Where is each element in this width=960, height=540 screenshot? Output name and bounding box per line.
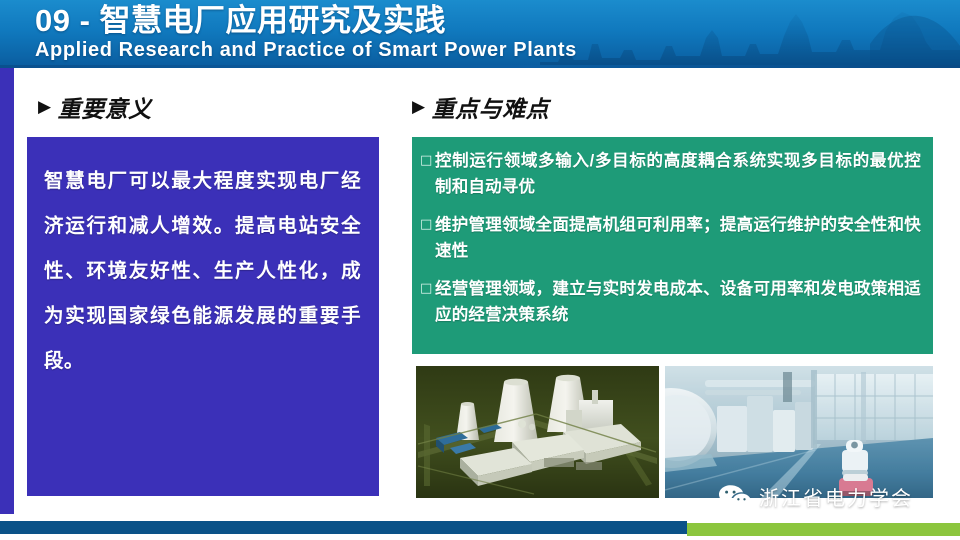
page-subtitle: Applied Research and Practice of Smart P… bbox=[35, 38, 577, 62]
wechat-watermark-label: 浙江省电力学会 bbox=[759, 482, 913, 511]
section-heading-right-label: 重点与难点 bbox=[432, 90, 550, 124]
list-item-text: 控制运行领域多输入/多目标的高度耦合系统实现多目标的最优控制和自动寻优 bbox=[435, 148, 921, 200]
triangle-bullet-icon: ▶ bbox=[412, 98, 426, 115]
section-heading-left: ▶ 重要意义 bbox=[38, 90, 152, 124]
header-bottom-edge bbox=[0, 65, 960, 68]
square-bullet-icon: □ bbox=[420, 276, 435, 302]
square-bullet-icon: □ bbox=[420, 212, 435, 238]
significance-panel: 智慧电厂可以最大程度实现电厂经济运行和减人增效。提高电站安全性、环境友好性、生产… bbox=[27, 137, 379, 496]
power-plant-3d-rendering-image bbox=[416, 366, 659, 498]
wechat-icon bbox=[718, 484, 752, 510]
slide: 09 - 智慧电厂应用研究及实践 Applied Research and Pr… bbox=[0, 0, 960, 540]
city-skyline-silhouette-icon bbox=[540, 0, 960, 68]
triangle-bullet-icon: ▶ bbox=[38, 98, 52, 115]
list-item-text: 维护管理领域全面提高机组可利用率；提高运行维护的安全性和快速性 bbox=[435, 212, 921, 264]
list-item: □ 维护管理领域全面提高机组可利用率；提高运行维护的安全性和快速性 bbox=[420, 212, 921, 264]
wechat-watermark: 浙江省电力学会 bbox=[718, 482, 913, 511]
square-bullet-icon: □ bbox=[420, 148, 435, 174]
list-item: □ 经营管理领域，建立与实时发电成本、设备可用率和发电政策相适应的经营决策系统 bbox=[420, 276, 921, 328]
slide-header: 09 - 智慧电厂应用研究及实践 Applied Research and Pr… bbox=[0, 0, 960, 68]
section-heading-right: ▶ 重点与难点 bbox=[412, 90, 549, 124]
footer-bar-green bbox=[687, 523, 960, 536]
left-accent-rail bbox=[0, 68, 14, 514]
footer-bar-blue bbox=[0, 521, 687, 534]
turbine-hall-inspection-robot-image bbox=[665, 366, 933, 498]
section-heading-left-label: 重要意义 bbox=[58, 90, 152, 124]
page-title: 09 - 智慧电厂应用研究及实践 bbox=[35, 3, 577, 39]
list-item: □ 控制运行领域多输入/多目标的高度耦合系统实现多目标的最优控制和自动寻优 bbox=[420, 148, 921, 200]
significance-body-text: 智慧电厂可以最大程度实现电厂经济运行和减人增效。提高电站安全性、环境友好性、生产… bbox=[44, 159, 361, 384]
key-difficulties-panel: □ 控制运行领域多输入/多目标的高度耦合系统实现多目标的最优控制和自动寻优 □ … bbox=[412, 137, 933, 354]
header-text-block: 09 - 智慧电厂应用研究及实践 Applied Research and Pr… bbox=[35, 3, 577, 62]
list-item-text: 经营管理领域，建立与实时发电成本、设备可用率和发电政策相适应的经营决策系统 bbox=[435, 276, 921, 328]
